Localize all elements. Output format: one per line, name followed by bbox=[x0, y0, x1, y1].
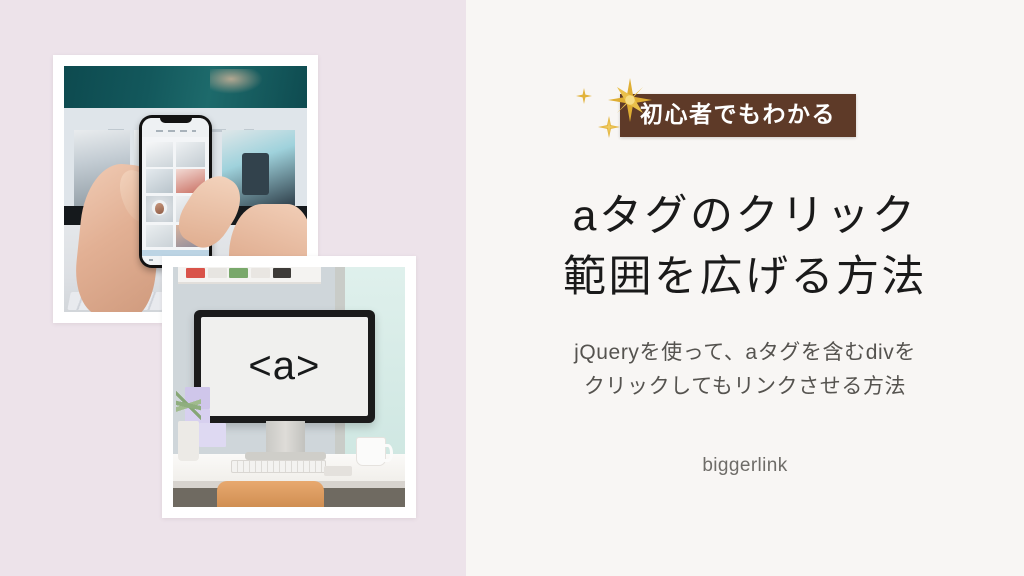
wall-shelf bbox=[178, 267, 322, 284]
desktop-monitor: <a> bbox=[194, 310, 375, 423]
book-5 bbox=[273, 268, 292, 278]
subtitle-line-2: クリックしてもリンクさせる方法 bbox=[466, 370, 1024, 404]
book-3 bbox=[229, 268, 248, 278]
subtitle-line-1: jQueryを使って、aタグを含むdivを bbox=[466, 336, 1024, 370]
eyecatch-canvas: <a> bbox=[0, 0, 1024, 576]
desktop-keyboard bbox=[231, 460, 326, 473]
monitor-stand bbox=[266, 421, 305, 455]
coffee-mug bbox=[356, 437, 386, 466]
book-4 bbox=[251, 268, 270, 278]
wooden-chair bbox=[217, 481, 324, 507]
phone-grid-item-2 bbox=[176, 142, 205, 167]
page-title: aタグのクリック 範囲を広げる方法 bbox=[466, 186, 1024, 308]
badge-label: 初心者でもわかる bbox=[640, 102, 836, 127]
sparkle-large-icon bbox=[608, 78, 652, 122]
photo-frame-monitor-atag: <a> bbox=[162, 256, 416, 518]
monitor-stand-base bbox=[245, 452, 326, 460]
phone-grid-item-7 bbox=[146, 225, 173, 247]
photo-monitor-atag: <a> bbox=[173, 267, 405, 507]
byline: biggerlink bbox=[466, 455, 1024, 477]
badge-banner: 初心者でもわかる bbox=[620, 94, 856, 137]
sparkle-small-icon bbox=[576, 88, 592, 104]
phone-grid-item-1 bbox=[146, 142, 173, 167]
book-1 bbox=[186, 268, 205, 278]
monitor-hero-banner bbox=[64, 66, 307, 108]
phone-grid-item-5 bbox=[146, 196, 173, 222]
badge-group: 初心者でもわかる bbox=[576, 80, 876, 140]
mouse bbox=[324, 466, 352, 476]
sticky-note-3 bbox=[199, 423, 227, 447]
phone-grid-item-3 bbox=[146, 169, 173, 192]
title-line-2: 範囲を広げる方法 bbox=[466, 247, 1024, 308]
potted-plant bbox=[178, 421, 199, 462]
book-2 bbox=[208, 268, 227, 278]
page-subtitle: jQueryを使って、aタグを含むdivを クリックしてもリンクさせる方法 bbox=[466, 336, 1024, 404]
title-line-1: aタグのクリック bbox=[466, 186, 1024, 247]
monitor-screen: <a> bbox=[201, 317, 368, 416]
anchor-tag-text: <a> bbox=[248, 344, 320, 389]
phone-notch bbox=[160, 115, 192, 123]
